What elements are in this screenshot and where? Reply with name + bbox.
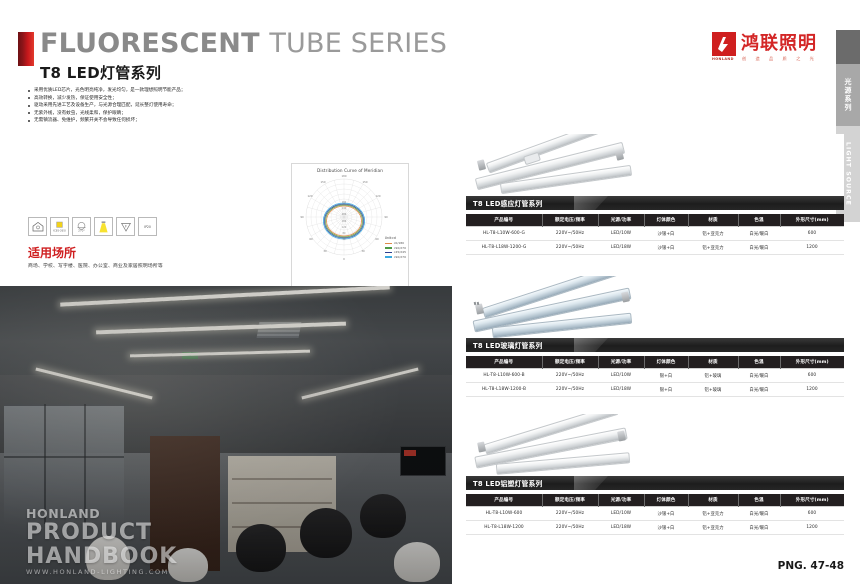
legend-swatch — [385, 243, 392, 245]
svg-text:30: 30 — [323, 249, 327, 253]
list-item: 无需镇流器、免维护，频繁开关不会导致任何损坏； — [28, 117, 308, 125]
svg-text:120: 120 — [308, 194, 313, 198]
table-row: HL-T8-L18W-1200-G 220V~/50Hz LED/18W 沙银+… — [466, 241, 844, 255]
cell-model: HL-T8-L10W-600 — [466, 507, 542, 521]
legend-swatch — [385, 252, 392, 254]
col-material: 材质 — [688, 356, 738, 369]
cell-material: 铝+亚克力 — [688, 507, 738, 521]
page-title: FLUORESCENT TUBE SERIES — [40, 28, 447, 59]
product-table-aluplastic: 产品编号 额定电压/频率 光源/功率 灯体颜色 材质 色温 外形尺寸(mm) H… — [466, 494, 844, 535]
svg-text:150: 150 — [321, 180, 326, 184]
cell-source: LED/10W — [598, 507, 644, 521]
svg-text:160: 160 — [342, 220, 347, 223]
page-title-bold: FLUORESCENT — [40, 28, 260, 59]
svg-text:90: 90 — [384, 215, 388, 219]
cell-size: 600 — [780, 369, 844, 383]
svg-text:60: 60 — [309, 237, 313, 241]
svg-text:AC85-265V: AC85-265V — [53, 228, 66, 232]
cell-color: 银+白 — [644, 383, 688, 397]
page-title-light: TUBE SERIES — [269, 28, 447, 59]
product-table-sensor: 产品编号 额定电压/频率 光源/功率 灯体颜色 材质 色温 外形尺寸(mm) H… — [466, 214, 844, 255]
cell-model: HL-T8-L10W-600-G — [466, 227, 542, 241]
side-tab-label-en: LIGHT SOURCE — [845, 142, 852, 206]
cell-material: 铝+玻璃 — [688, 383, 738, 397]
cell-material: 铝+亚克力 — [688, 227, 738, 241]
cell-model: HL-T8-L18W-1200 — [466, 521, 542, 535]
no-flicker-icon: F — [116, 217, 135, 236]
cell-source: LED/10W — [598, 227, 644, 241]
scene-heading: 适用场所 — [28, 244, 76, 261]
cell-material: 铝+亚克力 — [688, 521, 738, 535]
svg-text:150: 150 — [363, 180, 368, 184]
table-header-row: 产品编号 额定电压/频率 光源/功率 灯体颜色 材质 色温 外形尺寸(mm) — [466, 356, 844, 369]
col-color: 灯体颜色 — [644, 214, 688, 227]
product-block-aluplastic: T8 LED铝塑灯管系列 产品编号 额定电压/频率 光源/功率 灯体颜色 材质 … — [466, 414, 844, 535]
col-size: 外形尺寸(mm) — [780, 356, 844, 369]
cell-size: 1200 — [780, 241, 844, 255]
cell-model: HL-T8-L18W-1200-B — [466, 383, 542, 397]
cell-color: 银+白 — [644, 369, 688, 383]
legend-swatch — [385, 247, 392, 249]
svg-text:200: 200 — [342, 213, 347, 216]
col-size: 外形尺寸(mm) — [780, 214, 844, 227]
cell-cct: 白光/暖白 — [738, 521, 780, 535]
section-title-aluplastic: T8 LED铝塑灯管系列 — [466, 478, 543, 488]
table-row: HL-T8-L10W-600-G 220V~/50Hz LED/10W 沙银+白… — [466, 227, 844, 241]
svg-text:60: 60 — [375, 237, 379, 241]
legend-item: c90/270 — [385, 255, 406, 259]
section-title-bar-sensor: T8 LED感应灯管系列 — [466, 196, 844, 210]
col-model: 产品编号 — [466, 494, 542, 507]
product-image-aluplastic — [466, 414, 844, 476]
beam-angle-icon: 270° — [72, 217, 91, 236]
section-title-sensor: T8 LED感应灯管系列 — [466, 198, 543, 208]
cell-voltage: 220V~/50Hz — [542, 227, 598, 241]
table-row: HL-T8-L18W-1200 220V~/50Hz LED/18W 沙银+白 … — [466, 521, 844, 535]
product-table-glass: 产品编号 额定电压/频率 光源/功率 灯体颜色 材质 色温 外形尺寸(mm) H… — [466, 356, 844, 397]
cell-voltage: 220V~/50Hz — [542, 241, 598, 255]
cell-source: LED/18W — [598, 383, 644, 397]
feature-list: 采用优质LED芯片，光色明亮纯净，发光均匀，是一款理想照明节能产品； 高效转换，… — [28, 87, 308, 125]
overlay-product: PRODUCT — [26, 520, 152, 545]
svg-text:90: 90 — [300, 215, 304, 219]
scene-text: 商场、学校、写字楼、医院、办公室、商业及家居照明场所等 — [28, 262, 163, 269]
col-source: 光源/功率 — [598, 494, 644, 507]
header-accent-bar — [18, 32, 34, 66]
svg-text:240: 240 — [342, 207, 347, 210]
legend-label: c90/270 — [394, 255, 406, 259]
list-item: 无紫外线，没有蚊虫，光线柔和，保护眼睛； — [28, 110, 308, 118]
ip-rating-label: IP20 — [144, 225, 151, 229]
cell-cct: 白光/暖白 — [738, 369, 780, 383]
col-model: 产品编号 — [466, 214, 542, 227]
brand-mark-text: HONLAND — [712, 57, 734, 61]
overlay-handbook: HANDBOOK — [26, 544, 177, 569]
product-block-sensor: T8 LED感应灯管系列 产品编号 额定电压/频率 光源/功率 灯体颜色 材质 … — [466, 134, 844, 255]
cell-voltage: 220V~/50Hz — [542, 507, 598, 521]
product-image-sensor — [466, 134, 844, 196]
cell-cct: 白光/暖白 — [738, 227, 780, 241]
overlay-brand: HONLAND — [26, 506, 100, 521]
col-source: 光源/功率 — [598, 214, 644, 227]
cell-size: 600 — [780, 507, 844, 521]
svg-text:0: 0 — [343, 257, 345, 261]
brand-logo: 鸿联照明 — [712, 32, 817, 56]
table-row: HL-T8-L10W-600-B 220V~/50Hz LED/10W 银+白 … — [466, 369, 844, 383]
list-item: 采用优质LED芯片，光色明亮纯净，发光均匀，是一款理想照明节能产品； — [28, 87, 308, 95]
col-material: 材质 — [688, 214, 738, 227]
cell-voltage: 220V~/50Hz — [542, 383, 598, 397]
table-row: HL-T8-L18W-1200-B 220V~/50Hz LED/18W 银+白… — [466, 383, 844, 397]
section-title-bar-aluplastic: T8 LED铝塑灯管系列 — [466, 476, 844, 490]
section-title-bar-glass: T8 LED玻璃灯管系列 — [466, 338, 844, 352]
side-tab-top — [836, 30, 860, 64]
cell-color: 沙银+白 — [644, 227, 688, 241]
overlay-website: WWW.HONLAND-LIGHTING.COM — [26, 568, 169, 576]
svg-text:30: 30 — [361, 249, 365, 253]
col-source: 光源/功率 — [598, 356, 644, 369]
side-tab-label-cn: 光源系列 — [843, 78, 853, 112]
list-item: 高效转换，减少发热，保证使用安全性； — [28, 95, 308, 103]
cell-size: 1200 — [780, 521, 844, 535]
product-image-glass — [466, 276, 844, 338]
svg-text:40: 40 — [343, 238, 346, 241]
cell-model: HL-T8-L10W-600-B — [466, 369, 542, 383]
svg-text:F: F — [125, 224, 127, 228]
list-item: 驱动采用先进工艺及设备生产，与光源合理匹配，延长整灯使用寿命； — [28, 102, 308, 110]
cell-size: 1200 — [780, 383, 844, 397]
section-swoosh-decoration — [574, 476, 608, 490]
col-cct: 色温 — [738, 214, 780, 227]
brand-tagline: 创 造 品 质 之 光 — [742, 56, 818, 62]
side-tab-cn: 光源系列 — [836, 64, 860, 126]
brand-name-cn: 鸿联照明 — [741, 35, 817, 53]
col-cct: 色温 — [738, 494, 780, 507]
indoor-house-icon — [28, 217, 47, 236]
svg-text:270°: 270° — [78, 229, 85, 233]
col-voltage: 额定电压/频率 — [542, 356, 598, 369]
page-subtitle-cn: T8 LED灯管系列 — [40, 62, 161, 83]
cell-material: 铝+玻璃 — [688, 369, 738, 383]
catalog-page: FLUORESCENT TUBE SERIES T8 LED灯管系列 采用优质L… — [0, 0, 860, 584]
section-swoosh-decoration — [574, 338, 608, 352]
section-swoosh-decoration — [574, 196, 608, 210]
svg-text:80: 80 — [343, 232, 346, 235]
section-title-glass: T8 LED玻璃灯管系列 — [466, 340, 543, 350]
col-voltage: 额定电压/频率 — [542, 214, 598, 227]
spec-icon-row: AC85-265V 270° F IP20 — [28, 217, 157, 236]
ip-rating-icon: IP20 — [138, 217, 157, 236]
table-header-row: 产品编号 额定电压/频率 光源/功率 灯体颜色 材质 色温 外形尺寸(mm) — [466, 494, 844, 507]
col-color: 灯体颜色 — [644, 356, 688, 369]
cell-color: 沙银+白 — [644, 507, 688, 521]
svg-text:120: 120 — [376, 194, 381, 198]
product-block-glass: T8 LED玻璃灯管系列 产品编号 额定电压/频率 光源/功率 灯体颜色 材质 … — [466, 276, 844, 397]
col-color: 灯体颜色 — [644, 494, 688, 507]
cell-voltage: 220V~/50Hz — [542, 369, 598, 383]
cell-source: LED/18W — [598, 521, 644, 535]
col-cct: 色温 — [738, 356, 780, 369]
cell-model: HL-T8-L18W-1200-G — [466, 241, 542, 255]
cell-cct: 白光/暖白 — [738, 507, 780, 521]
table-header-row: 产品编号 额定电压/频率 光源/功率 灯体颜色 材质 色温 外形尺寸(mm) — [466, 214, 844, 227]
cell-cct: 白光/暖白 — [738, 383, 780, 397]
cell-source: LED/10W — [598, 369, 644, 383]
col-material: 材质 — [688, 494, 738, 507]
col-model: 产品编号 — [466, 356, 542, 369]
legend-swatch — [385, 256, 392, 258]
polar-chart: 180 9090 150150 120120 6060 3030 0 28024… — [292, 173, 408, 273]
svg-text:120: 120 — [342, 226, 347, 229]
svg-text:180: 180 — [342, 174, 347, 178]
col-size: 外形尺寸(mm) — [780, 494, 844, 507]
cell-color: 沙银+白 — [644, 521, 688, 535]
cell-size: 600 — [780, 227, 844, 241]
light-beam-icon — [94, 217, 113, 236]
honland-mark-icon — [712, 32, 736, 56]
cell-source: LED/18W — [598, 241, 644, 255]
table-row: HL-T8-L10W-600 220V~/50Hz LED/10W 沙银+白 铝… — [466, 507, 844, 521]
cell-color: 沙银+白 — [644, 241, 688, 255]
legend-unit: Unit:cd — [385, 236, 406, 240]
voltage-icon: AC85-265V — [50, 217, 69, 236]
svg-text:280: 280 — [342, 201, 347, 204]
cell-voltage: 220V~/50Hz — [542, 521, 598, 535]
col-voltage: 额定电压/频率 — [542, 494, 598, 507]
chart-legend: Unit:cd c0/180 c90/270 c45/245 c90/270 — [385, 236, 406, 259]
distribution-curve-card: Distribution Curve of Meridian — [291, 163, 409, 287]
page-number: PNG. 47-48 — [778, 560, 844, 572]
cell-cct: 白光/暖白 — [738, 241, 780, 255]
cell-material: 铝+亚克力 — [688, 241, 738, 255]
